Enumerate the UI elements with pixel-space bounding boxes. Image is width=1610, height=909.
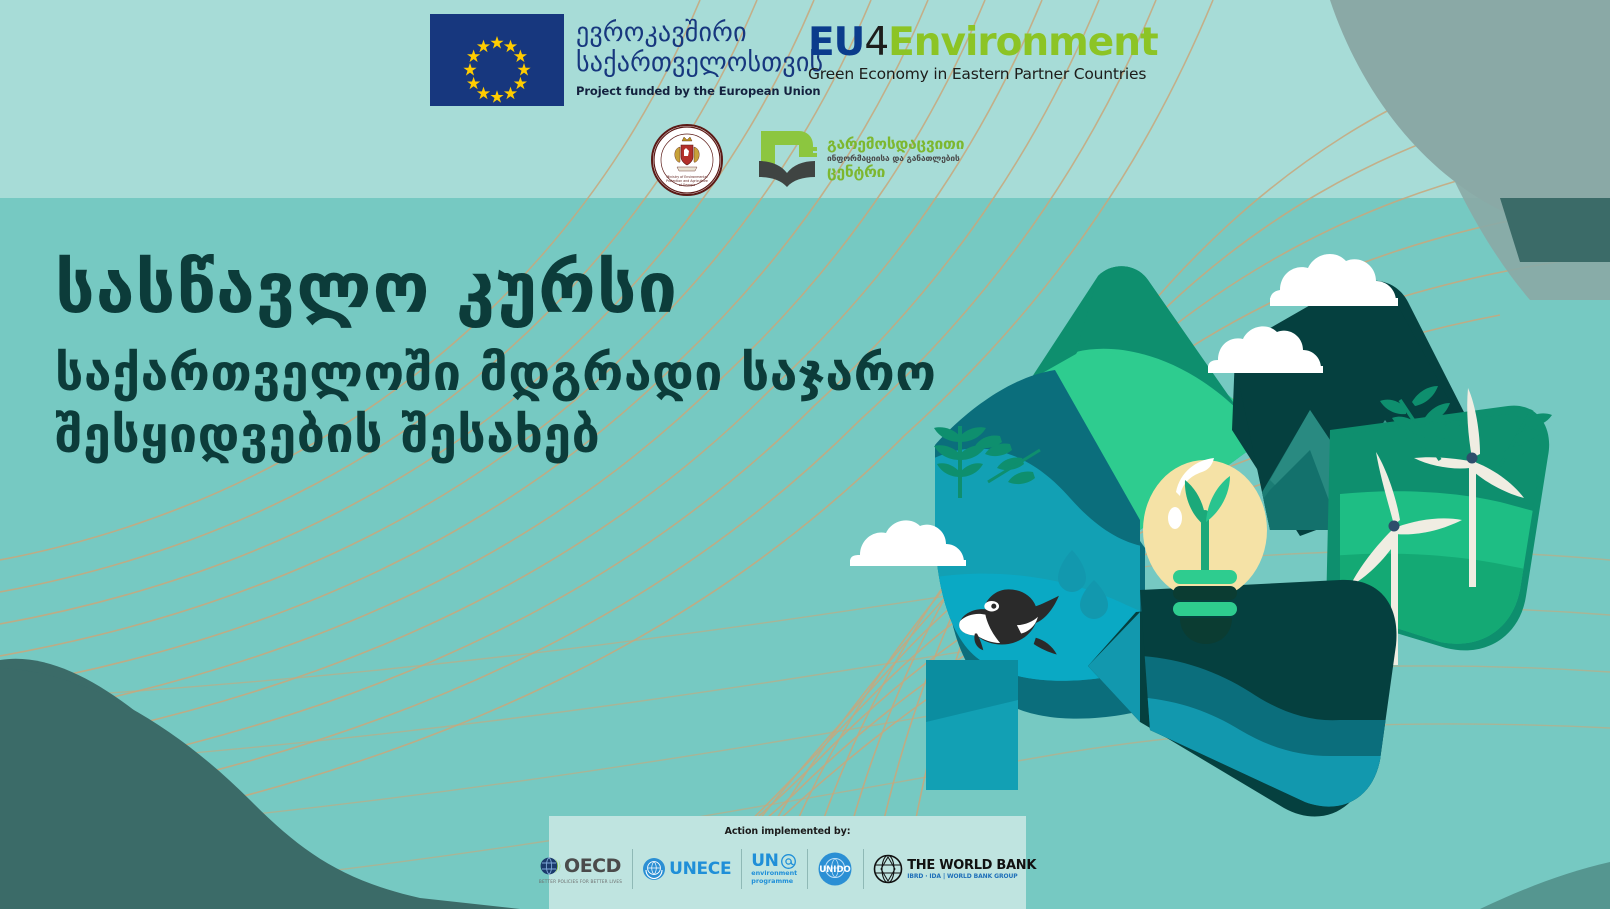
unep-at-icon bbox=[781, 854, 796, 869]
oecd-tagline: BETTER POLICIES FOR BETTER LIVES bbox=[539, 879, 622, 884]
oecd-logo-icon bbox=[540, 855, 562, 877]
footer-partner-logos: OECD BETTER POLICIES FOR BETTER LIVES UN… bbox=[549, 842, 1026, 896]
world-bank-name: THE WORLD BANK bbox=[907, 859, 1036, 873]
partner-logo-world-bank: THE WORLD BANK IBRD · IDA | WORLD BANK G… bbox=[863, 846, 1046, 892]
poster-root: ევროკავშირი საქართველოსთვის Project fund… bbox=[0, 0, 1610, 909]
cloud-icon-mountain-2 bbox=[1270, 254, 1398, 306]
page-subtitle-line2: შესყიდვების შესახებ bbox=[55, 404, 937, 466]
georgia-state-seal-icon: Ministry of Environmental Protection and… bbox=[651, 124, 723, 196]
title-block: სასწავლო კურსი საქართველოში მდგრადი საჯა… bbox=[55, 248, 937, 466]
page-subtitle-line1: საქართველოში მდგრადი საჯარო bbox=[55, 342, 937, 404]
unep-tagline-text: environment programme bbox=[751, 869, 797, 885]
page-subtitle: საქართველოში მდგრადი საჯარო შესყიდვების … bbox=[55, 342, 937, 466]
oecd-name: OECD bbox=[564, 855, 621, 877]
recycling-arrows-environment-illustration bbox=[840, 230, 1610, 830]
partner-logo-unece: UNECE bbox=[632, 846, 741, 892]
unido-globe-icon: UNIDO bbox=[817, 851, 853, 887]
unece-name: UNECE bbox=[669, 859, 731, 879]
world-bank-tagline: IBRD · IDA | WORLD BANK GROUP bbox=[907, 873, 1036, 880]
eu4environment-wordmark: EU4Environment bbox=[808, 22, 1158, 64]
eiec-line3: ცენტრი bbox=[827, 164, 964, 181]
book-leaf-icon bbox=[755, 127, 819, 189]
page-title: სასწავლო კურსი bbox=[55, 248, 937, 328]
eu4env-prefix: EU bbox=[808, 20, 864, 65]
eu4environment-logo: EU4Environment Green Economy in Eastern … bbox=[808, 22, 1158, 83]
eu4env-suffix: Environment bbox=[888, 20, 1157, 65]
eu-title-ka-line1: ევროკავშირი bbox=[576, 18, 823, 48]
header-logo-row: ევროკავშირი საქართველოსთვის Project fund… bbox=[0, 0, 1610, 198]
eiec-line1: გარემოსდაცვითი bbox=[827, 136, 964, 153]
eu4env-tagline: Green Economy in Eastern Partner Countri… bbox=[808, 65, 1158, 83]
eu-title-ka-line2: საქართველოსთვის bbox=[576, 48, 823, 78]
eu-logo-block: ევროკავშირი საქართველოსთვის Project fund… bbox=[430, 14, 823, 106]
eiec-logo-block: გარემოსდაცვითი ინფორმაციისა და განათლები… bbox=[755, 127, 964, 189]
partner-logo-unido: UNIDO bbox=[807, 846, 863, 892]
partner-logo-oecd: OECD BETTER POLICIES FOR BETTER LIVES bbox=[529, 846, 632, 892]
partner-logo-unep: UN environment programme bbox=[741, 846, 807, 892]
partner-footer-bar: Action implemented by: OECD BETTER POLIC… bbox=[549, 816, 1026, 909]
blob-bottom-right bbox=[1480, 862, 1610, 909]
svg-text:of Georgia: of Georgia bbox=[679, 183, 696, 187]
world-bank-globe-icon bbox=[873, 854, 903, 884]
svg-text:UNIDO: UNIDO bbox=[820, 865, 851, 875]
eu-subtitle-en: Project funded by the European Union bbox=[576, 84, 823, 98]
footer-title: Action implemented by: bbox=[549, 826, 1026, 837]
unep-tagline: environment programme bbox=[751, 870, 797, 885]
eiec-logo-text: გარემოსდაცვითი ინფორმაციისა და განათლები… bbox=[827, 135, 964, 181]
unep-name: UN bbox=[751, 853, 778, 870]
eu4env-numeral: 4 bbox=[864, 20, 888, 65]
eu-logo-text: ევროკავშირი საქართველოსთვის Project fund… bbox=[576, 14, 823, 98]
eu-flag-icon bbox=[430, 14, 564, 106]
water-panel-bottom-left bbox=[926, 660, 1018, 790]
blob-bottom-left-wide bbox=[0, 668, 520, 909]
un-wreath-icon bbox=[642, 857, 666, 881]
